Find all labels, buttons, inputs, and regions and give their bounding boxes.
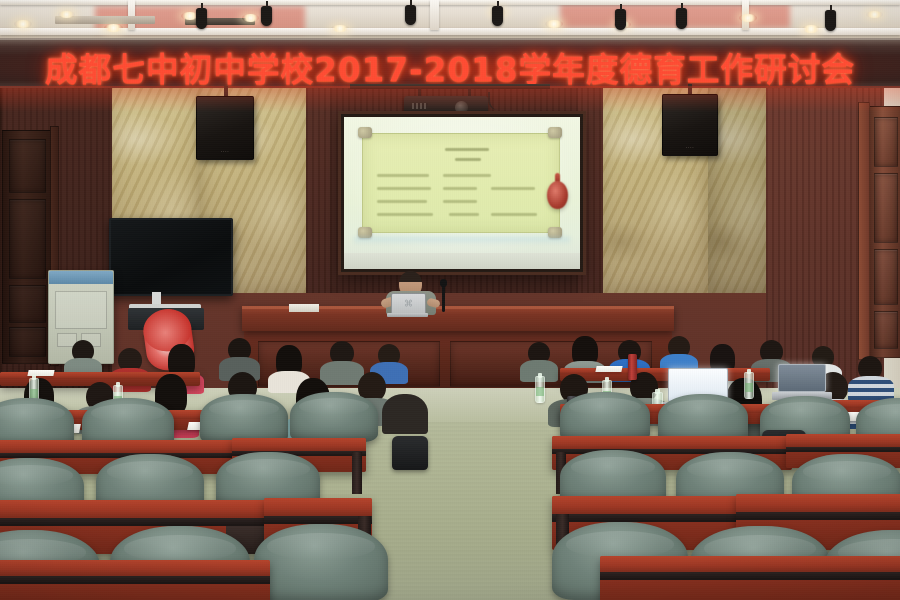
scroll-roller <box>358 127 372 138</box>
desk <box>600 556 900 600</box>
downlight <box>739 14 757 22</box>
track-spotlight <box>825 10 836 31</box>
downlight <box>802 25 820 33</box>
slide-shadow <box>354 237 570 245</box>
track-spotlight <box>676 8 687 29</box>
track-spotlight <box>492 6 503 26</box>
screen-surface <box>344 117 580 269</box>
right-door-frame <box>858 102 870 360</box>
desk <box>0 560 270 600</box>
door-panel <box>874 311 898 349</box>
speaker-brand: ···· <box>686 145 695 151</box>
projector-rail <box>350 84 550 89</box>
laptop-screen <box>778 364 826 392</box>
projector-cable <box>488 92 504 110</box>
left-door[interactable] <box>2 130 54 364</box>
desk-microphone <box>442 284 445 312</box>
track-spotlight <box>261 6 272 26</box>
desk-paper <box>289 304 319 312</box>
slide-body-line <box>491 213 537 216</box>
ceiling <box>0 0 900 40</box>
track-spotlight <box>196 8 207 29</box>
chair <box>254 524 388 600</box>
water-bottle <box>535 376 545 403</box>
slide-title-line <box>455 158 481 161</box>
downlight <box>331 25 349 32</box>
wall-speaker-right: ···· <box>662 94 718 156</box>
slide-title-line <box>445 148 489 151</box>
right-door[interactable] <box>868 106 900 358</box>
cabinet-top <box>49 271 113 284</box>
door-panel <box>9 139 46 193</box>
chair <box>560 392 650 442</box>
projector-vent <box>412 103 428 109</box>
speaker-brand: ···· <box>221 149 230 155</box>
downlight <box>545 20 563 28</box>
slide-body-line <box>443 174 491 177</box>
vase-ornament <box>547 181 568 209</box>
wood-panel <box>306 88 332 293</box>
chair <box>290 392 378 442</box>
door-panel <box>9 285 46 323</box>
slide-body-line <box>377 187 431 190</box>
downlight <box>58 11 75 18</box>
downlight <box>242 14 259 22</box>
slide-body-line <box>377 213 433 216</box>
door-panel <box>9 327 46 357</box>
door-panel <box>9 199 46 279</box>
ceiling-beam <box>0 28 900 35</box>
ceiling-beam <box>128 0 135 30</box>
slide-body-line <box>377 200 427 203</box>
chair <box>200 394 288 444</box>
door-panel <box>874 173 898 243</box>
slide-body-line <box>449 213 479 216</box>
desk-leg <box>352 452 362 494</box>
downlight <box>104 24 123 32</box>
scroll-roller <box>548 127 562 138</box>
slide-body-line <box>443 187 477 190</box>
bag <box>392 436 428 470</box>
door-panel <box>874 249 898 305</box>
presenter-laptop-base <box>387 313 428 317</box>
wall-speaker-left: ···· <box>196 96 254 160</box>
cabinet-door[interactable] <box>55 291 107 329</box>
water-bottle <box>744 372 754 399</box>
screen-bottom-bar <box>344 253 580 269</box>
paper <box>595 366 622 372</box>
downlight <box>14 20 32 28</box>
conference-hall-photo: 成都七中初中学校2017-2018学年度德育工作研讨会 <box>0 0 900 600</box>
projector-lens <box>455 101 468 114</box>
slide-body-line <box>443 200 477 203</box>
ceiling-beam <box>0 0 900 5</box>
wall-tv-monitor[interactable] <box>109 218 233 296</box>
slide-scroll-paper <box>362 133 560 233</box>
slide-body-line <box>491 187 535 190</box>
thermos <box>628 354 637 380</box>
slide-body-line <box>377 174 429 177</box>
ceiling-beam <box>430 0 439 30</box>
door-panel <box>874 117 898 167</box>
projection-screen <box>341 114 583 272</box>
downlight <box>866 11 883 18</box>
track-spotlight <box>405 5 416 25</box>
audience-laptop[interactable] <box>778 364 826 400</box>
apple-logo-icon: ⌘ <box>404 298 413 309</box>
track-spotlight <box>615 9 626 30</box>
